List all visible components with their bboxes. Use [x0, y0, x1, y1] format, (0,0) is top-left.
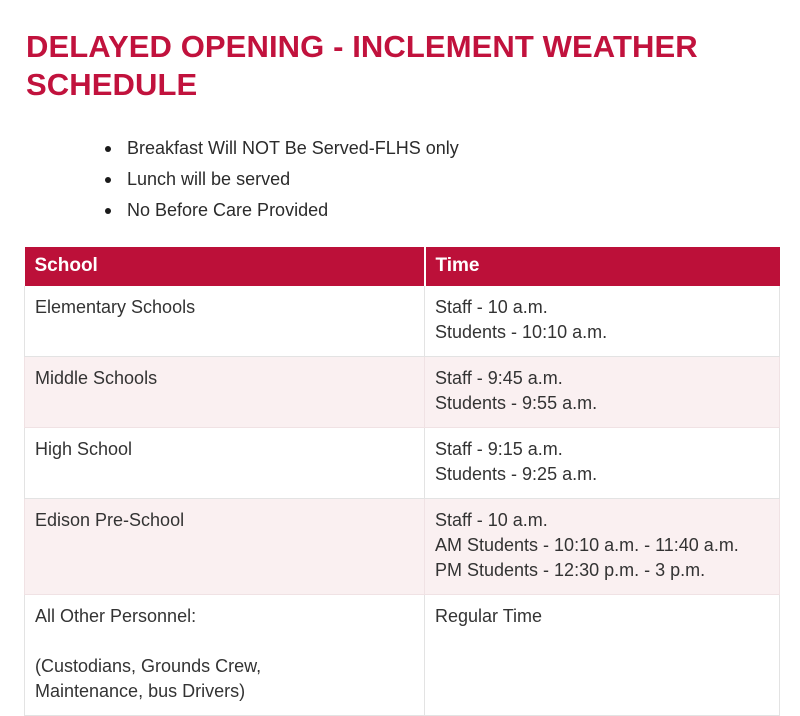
cell-line-spacer — [35, 629, 414, 654]
cell-line: Students - 9:55 a.m. — [435, 391, 769, 416]
cell-line: (Custodians, Grounds Crew, — [35, 654, 414, 679]
column-header-school: School — [25, 247, 425, 286]
cell-time: Staff - 9:15 a.m. Students - 9:25 a.m. — [425, 428, 780, 499]
cell-school: Middle Schools — [25, 357, 425, 428]
cell-time: Staff - 10 a.m. Students - 10:10 a.m. — [425, 286, 780, 357]
list-item-label: Lunch will be served — [127, 169, 290, 189]
cell-school: All Other Personnel: (Custodians, Ground… — [25, 595, 425, 716]
schedule-table: School Time Elementary Schools Staff - 1… — [24, 247, 780, 716]
cell-school: Edison Pre-School — [25, 499, 425, 595]
cell-line: Elementary Schools — [35, 295, 414, 320]
table-row: Middle Schools Staff - 9:45 a.m. Student… — [25, 357, 780, 428]
announcement-page: DELAYED OPENING - INCLEMENT WEATHER SCHE… — [0, 0, 800, 681]
cell-line: PM Students - 12:30 p.m. - 3 p.m. — [435, 558, 769, 583]
table-row: Elementary Schools Staff - 10 a.m. Stude… — [25, 286, 780, 357]
cell-line: High School — [35, 437, 414, 462]
list-item: Lunch will be served — [104, 164, 724, 195]
page-title: DELAYED OPENING - INCLEMENT WEATHER SCHE… — [26, 28, 726, 104]
table-row: High School Staff - 9:15 a.m. Students -… — [25, 428, 780, 499]
bullet-icon — [105, 146, 111, 152]
cell-school: Elementary Schools — [25, 286, 425, 357]
table-header: School Time — [25, 247, 780, 286]
cell-line: Staff - 10 a.m. — [435, 508, 769, 533]
list-item: Breakfast Will NOT Be Served-FLHS only — [104, 133, 724, 164]
table-row: All Other Personnel: (Custodians, Ground… — [25, 595, 780, 716]
list-item-label: Breakfast Will NOT Be Served-FLHS only — [127, 138, 459, 158]
list-item: No Before Care Provided — [104, 195, 724, 226]
cell-line: Staff - 9:15 a.m. — [435, 437, 769, 462]
cell-line: Students - 10:10 a.m. — [435, 320, 769, 345]
cell-time: Regular Time — [425, 595, 780, 716]
table-row: Edison Pre-School Staff - 10 a.m. AM Stu… — [25, 499, 780, 595]
cell-line: Middle Schools — [35, 366, 414, 391]
cell-time: Staff - 9:45 a.m. Students - 9:55 a.m. — [425, 357, 780, 428]
notes-list: Breakfast Will NOT Be Served-FLHS only L… — [104, 133, 724, 226]
cell-line: AM Students - 10:10 a.m. - 11:40 a.m. — [435, 533, 769, 558]
cell-school: High School — [25, 428, 425, 499]
cell-line: All Other Personnel: — [35, 604, 414, 629]
table-header-row: School Time — [25, 247, 780, 286]
cell-line: Staff - 9:45 a.m. — [435, 366, 769, 391]
list-item-label: No Before Care Provided — [127, 200, 328, 220]
cell-line: Edison Pre-School — [35, 508, 414, 533]
bullet-icon — [105, 177, 111, 183]
cell-line: Regular Time — [435, 604, 769, 629]
cell-line: Students - 9:25 a.m. — [435, 462, 769, 487]
cell-time: Staff - 10 a.m. AM Students - 10:10 a.m.… — [425, 499, 780, 595]
table-body: Elementary Schools Staff - 10 a.m. Stude… — [25, 286, 780, 716]
cell-line: Maintenance, bus Drivers) — [35, 679, 414, 704]
cell-line: Staff - 10 a.m. — [435, 295, 769, 320]
bullet-icon — [105, 208, 111, 214]
column-header-time: Time — [425, 247, 780, 286]
